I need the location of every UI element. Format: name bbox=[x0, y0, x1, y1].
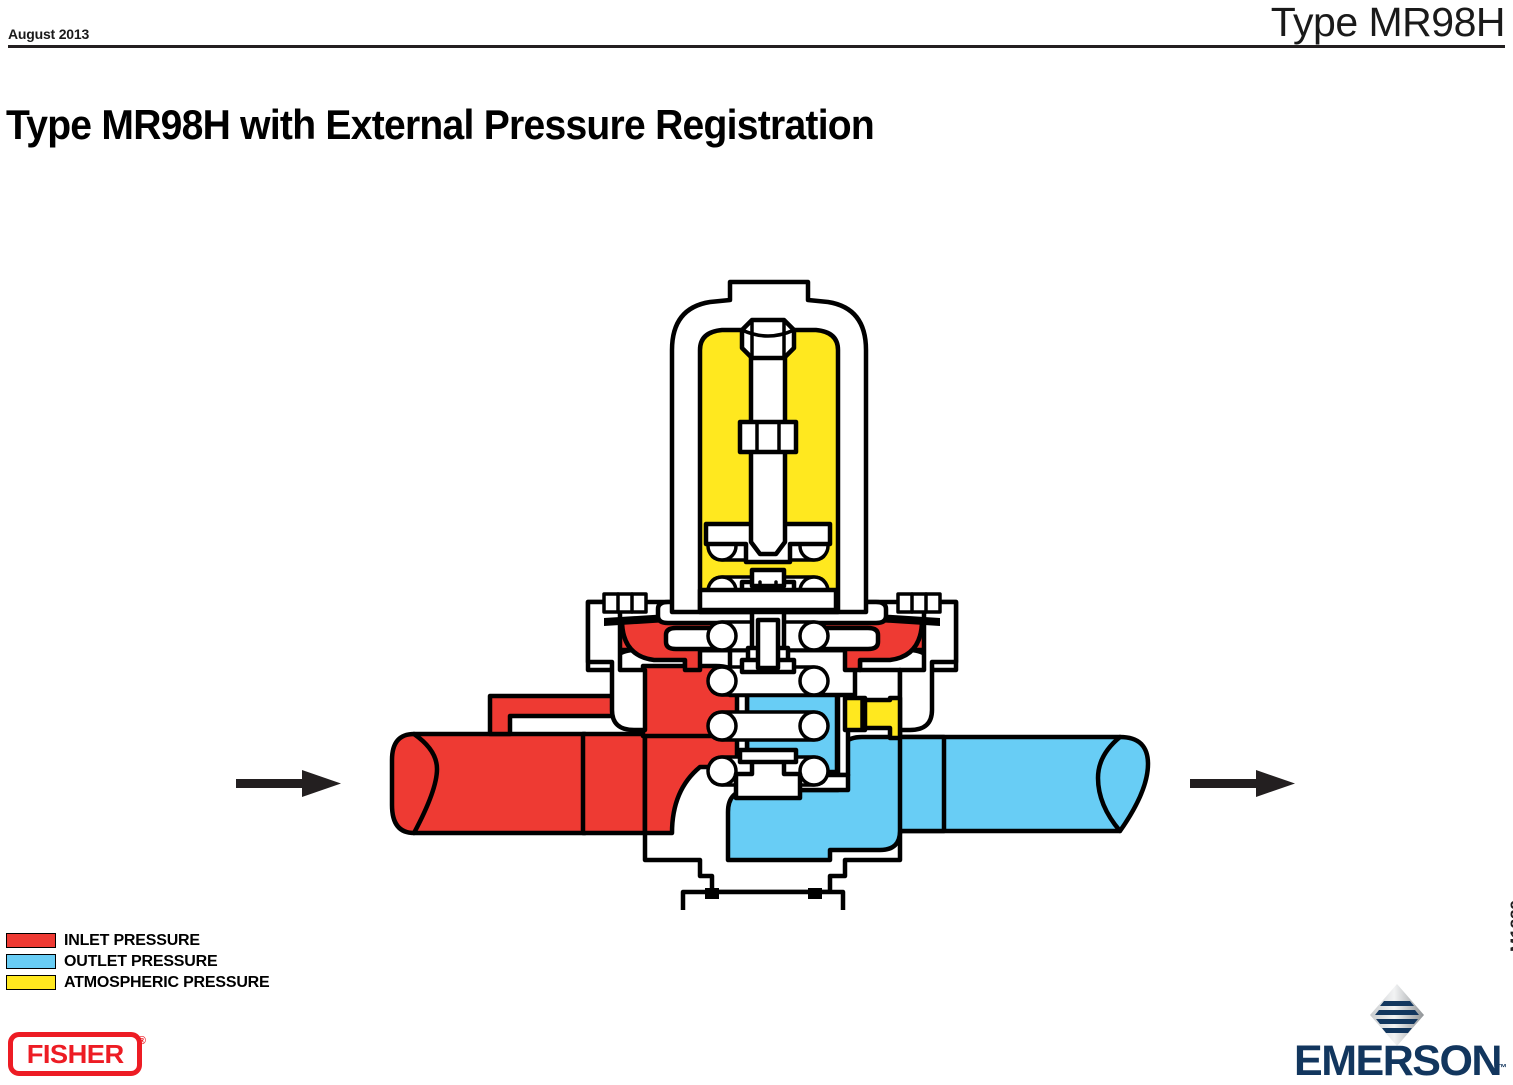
legend-item-outlet-pressure: OUTLET PRESSURE bbox=[6, 951, 270, 972]
emerson-trademark-mark: ™ bbox=[1497, 1063, 1507, 1074]
bottom-cap bbox=[683, 888, 843, 910]
legend-label-outlet: OUTLET PRESSURE bbox=[64, 953, 217, 971]
legend-item-atmospheric-pressure: ATMOSPHERIC PRESSURE bbox=[6, 972, 270, 993]
fisher-registered-mark: ® bbox=[138, 1035, 146, 1047]
emerson-wordmark: EMERSON bbox=[1290, 1040, 1505, 1083]
lock-nut bbox=[740, 422, 796, 452]
outlet-pipe bbox=[898, 737, 1148, 831]
legend-label-inlet: INLET PRESSURE bbox=[64, 932, 200, 950]
header-date: August 2013 bbox=[8, 26, 89, 42]
inlet-pipe bbox=[392, 734, 645, 833]
outlet-flow-arrow bbox=[1190, 770, 1295, 797]
pressure-legend: INLET PRESSURE OUTLET PRESSURE ATMOSPHER… bbox=[6, 930, 270, 993]
regulator-cutaway-figure: .ln { fill:none; stroke:#000; stroke-wid… bbox=[0, 150, 1513, 910]
emerson-logo: EMERSON ™ bbox=[1290, 984, 1505, 1080]
adjusting-screw-hex-head bbox=[742, 320, 794, 358]
fisher-wordmark: FISHER bbox=[27, 1039, 124, 1070]
inlet-flow-arrow bbox=[236, 770, 341, 797]
legend-swatch-inlet bbox=[6, 933, 56, 948]
flange-bolt-left bbox=[604, 594, 646, 612]
page-title: Type MR98H with External Pressure Regist… bbox=[6, 101, 874, 149]
header-product-name: Type MR98H bbox=[1271, 0, 1505, 44]
legend-swatch-outlet bbox=[6, 954, 56, 969]
page-header: August 2013 Type MR98H bbox=[0, 0, 1513, 48]
figure-id-label: M1239 bbox=[1507, 900, 1513, 952]
header-divider-rule bbox=[8, 45, 1505, 48]
legend-item-inlet-pressure: INLET PRESSURE bbox=[6, 930, 270, 951]
legend-swatch-atmospheric bbox=[6, 975, 56, 990]
adjusting-screw bbox=[751, 356, 785, 554]
flange-bolt-right bbox=[898, 594, 940, 612]
fisher-logo: FISHER ® bbox=[8, 1032, 142, 1076]
legend-label-atmospheric: ATMOSPHERIC PRESSURE bbox=[64, 974, 270, 992]
